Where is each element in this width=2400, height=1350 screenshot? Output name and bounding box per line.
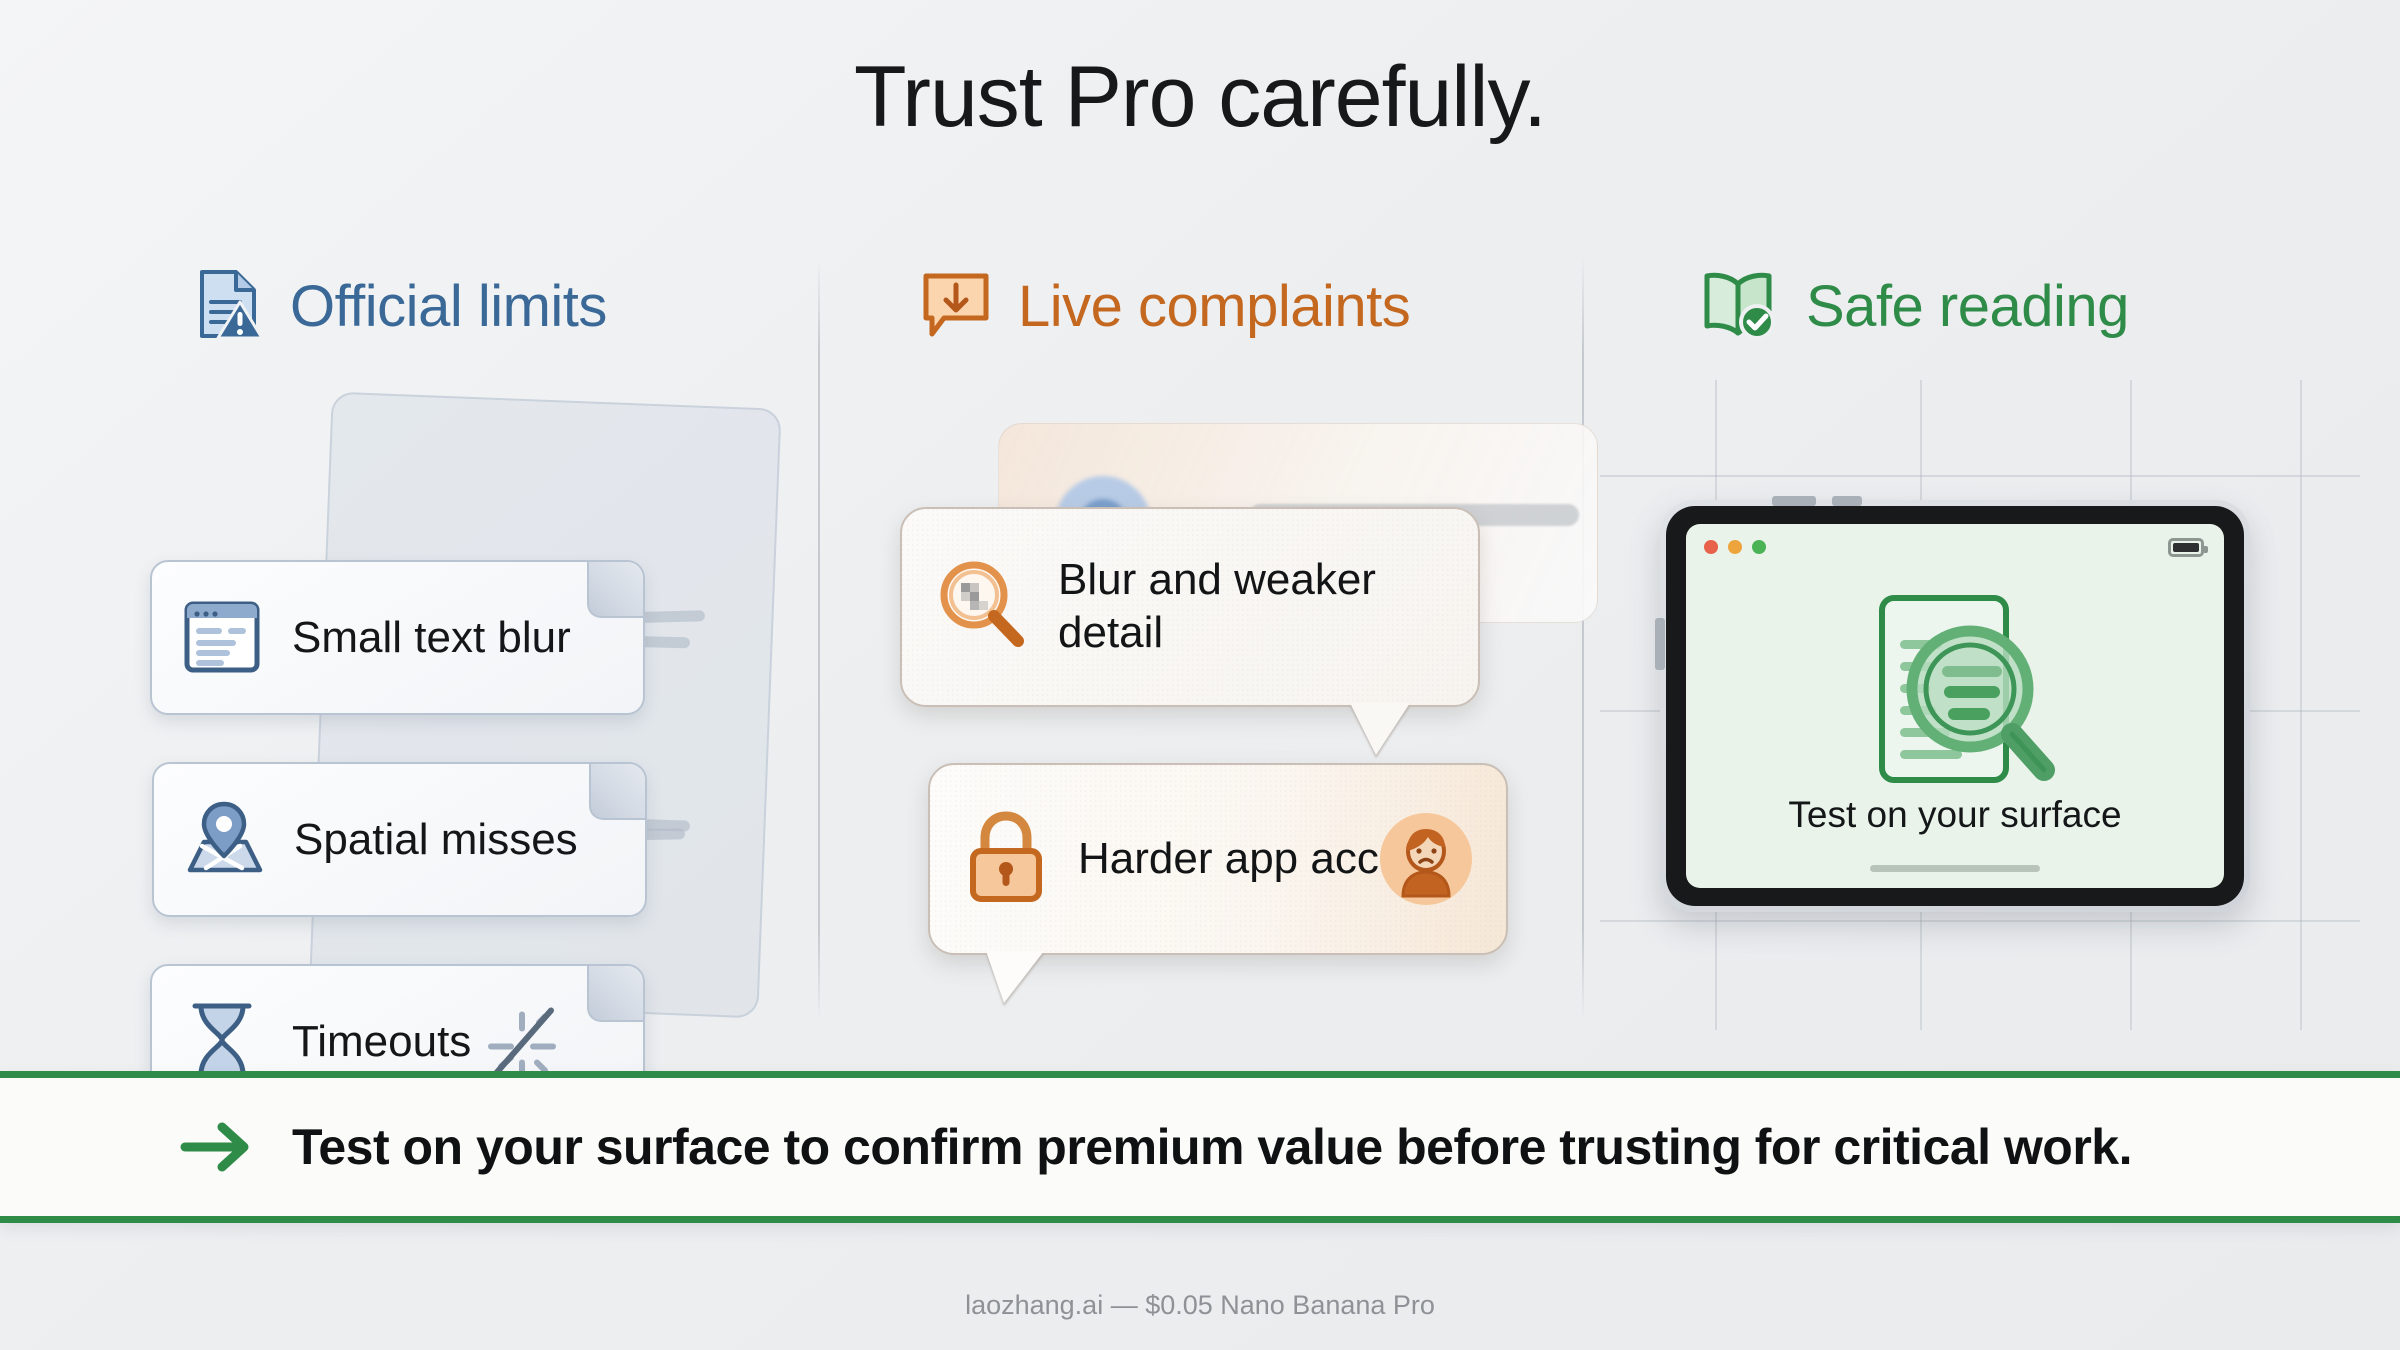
map-pin-icon: [180, 794, 272, 886]
column-header-official-limits: Official limits: [196, 268, 607, 345]
document-warning-icon: [196, 268, 264, 345]
complaint-bubble-blur-detail[interactable]: Blur and weaker detail: [900, 507, 1480, 707]
magnifier-pixel-icon: [930, 553, 1034, 662]
column-header-label: Live complaints: [1018, 273, 1410, 340]
folded-corner: [587, 964, 645, 1022]
official-limits-panel: Small text blur Spatial misses: [150, 380, 790, 1030]
volume-button[interactable]: [1772, 496, 1816, 506]
column-divider-2: [1582, 258, 1584, 1020]
limit-card-label: Small text blur: [292, 613, 571, 663]
window-traffic-lights[interactable]: [1704, 540, 1766, 554]
column-header-label: Official limits: [290, 273, 607, 340]
credit-line: laozhang.ai — $0.05 Nano Banana Pro: [0, 1290, 2400, 1321]
power-button[interactable]: [1655, 618, 1665, 670]
arrow-right-icon: [180, 1121, 254, 1173]
bubble-tail: [986, 951, 1044, 1003]
column-header-label: Safe reading: [1806, 273, 2129, 340]
tablet-device[interactable]: Test on your surface: [1660, 500, 2250, 912]
limit-card-spatial-misses[interactable]: Spatial misses: [152, 762, 647, 917]
document-magnifier-icon: [1830, 584, 2080, 814]
volume-button[interactable]: [1832, 496, 1862, 506]
tablet-bezel: Test on your surface: [1666, 506, 2244, 906]
screen-caption: Test on your surface: [1686, 794, 2224, 836]
column-header-safe-reading: Safe reading: [1700, 268, 2129, 345]
takeaway-banner: Test on your surface to confirm premium …: [0, 1071, 2400, 1223]
sad-user-avatar: [1380, 813, 1472, 905]
minimize-dot: [1728, 540, 1742, 554]
column-header-live-complaints: Live complaints: [920, 268, 1410, 345]
column-divider-1: [818, 258, 820, 1020]
close-dot: [1704, 540, 1718, 554]
padlock-icon: [958, 807, 1054, 912]
speech-bubble-download-icon: [920, 268, 992, 345]
limit-card-small-text-blur[interactable]: Small text blur: [150, 560, 645, 715]
home-indicator: [1870, 865, 2040, 872]
limit-card-label: Timeouts: [292, 1017, 471, 1067]
folded-corner: [589, 762, 647, 820]
live-complaints-panel: Blur and weaker detail Harder app access: [900, 415, 1580, 1025]
page-title: Trust Pro carefully.: [0, 48, 2400, 147]
browser-text-icon: [178, 592, 270, 684]
folded-corner: [587, 560, 645, 618]
open-book-check-icon: [1700, 268, 1780, 345]
maximize-dot: [1752, 540, 1766, 554]
battery-icon: [2168, 538, 2204, 557]
complaint-bubble-app-access[interactable]: Harder app access: [928, 763, 1508, 955]
tablet-screen[interactable]: Test on your surface: [1686, 524, 2224, 888]
bubble-tail: [1350, 703, 1410, 755]
complaint-bubble-label: Blur and weaker detail: [1058, 554, 1450, 660]
safe-reading-panel: Test on your surface: [1600, 380, 2360, 1030]
limit-card-label: Spatial misses: [294, 815, 578, 865]
takeaway-text: Test on your surface to confirm premium …: [292, 1118, 2132, 1176]
